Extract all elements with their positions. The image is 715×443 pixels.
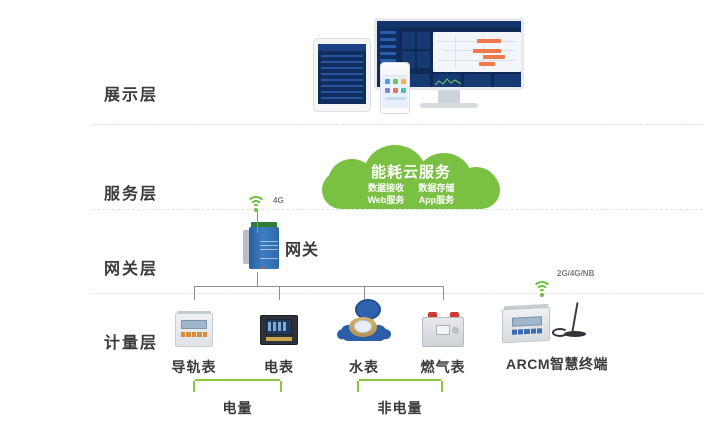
connector-to-water-meter: [364, 286, 365, 300]
meter-din-rail: 导轨表: [151, 305, 237, 377]
connector-to-gas-meter: [443, 286, 444, 300]
divider-gateway-metering: [92, 293, 703, 295]
gateway-network-tag: 4G: [273, 196, 284, 205]
connector-gateway-down: [257, 272, 258, 286]
divider-presentation-service: [92, 124, 703, 126]
connector-to-electric-meter: [279, 286, 280, 300]
gateway-device-group: 4G 网关: [243, 192, 353, 272]
antenna-base: [564, 331, 586, 337]
layer-label-presentation: 展示层: [104, 81, 200, 105]
architecture-diagram: 展示层 服务层 网关层 计量层: [0, 0, 715, 443]
wifi-signal-icon: [245, 196, 267, 212]
cloud-line-data-receive: 数据接收: [368, 182, 405, 194]
din-rail-meter-icon: [151, 305, 237, 353]
smartphone-device: [380, 62, 410, 114]
gateway-body: [249, 227, 279, 269]
connector-bus-horizontal: [194, 286, 443, 287]
bracket-label-electric: 电量: [193, 398, 282, 418]
electric-meter-icon: [236, 305, 322, 353]
dashboard-chart-panel: [494, 74, 521, 90]
phone-app-header: [382, 68, 408, 76]
dashboard-card: [417, 32, 430, 49]
cloud-line-data-storage: 数据存储: [418, 182, 454, 194]
meter-label-water: 水表: [321, 357, 407, 377]
bracket-non-electric-group: [357, 381, 443, 392]
tablet-device: [313, 38, 371, 112]
gas-meter-icon: [400, 305, 486, 353]
dashboard-map-panel: [433, 32, 521, 72]
antenna-rod-icon: [571, 302, 578, 332]
cloud-line-web-service: Web服务: [368, 194, 405, 206]
tablet-app-header: [318, 44, 366, 51]
wifi-signal-icon: [531, 281, 553, 297]
meter-label-electric: 电表: [236, 357, 322, 377]
dashboard-card: [402, 32, 415, 49]
arcm-terminal-device: ARCM智慧终端: [496, 300, 616, 350]
monitor-stand-neck: [438, 90, 460, 104]
cloud-line-app-service: App服务: [418, 194, 454, 206]
meter-electric: 电表: [236, 305, 322, 377]
terminal-network-tag: 2G/4G/NB: [557, 269, 594, 278]
water-meter-icon: [321, 299, 407, 353]
connector-to-din-rail-meter: [194, 286, 195, 300]
bracket-electric-group: [193, 381, 282, 392]
gateway-label: 网关: [285, 236, 319, 260]
connector-gateway-to-cloud: [257, 211, 258, 233]
arcm-display: [512, 316, 542, 327]
meter-gas: 燃气表: [400, 305, 486, 377]
sparkline-icon: [435, 78, 461, 87]
dashboard-card: [417, 51, 430, 68]
meter-label-gas: 燃气表: [400, 357, 486, 377]
bracket-label-non-electric: 非电量: [357, 398, 443, 418]
meter-water: 水表: [321, 299, 407, 377]
dashboard-chart-panel: [464, 74, 491, 90]
meter-label-din-rail: 导轨表: [151, 357, 237, 377]
cloud-column-storage: 数据存储 App服务: [418, 182, 454, 206]
phone-screen: [382, 68, 408, 108]
layer-label-service: 服务层: [104, 180, 200, 204]
layer-label-gateway: 网关层: [104, 255, 200, 279]
monitor-stand-base: [420, 103, 478, 108]
terminal-label: ARCM智慧终端: [490, 354, 624, 374]
tablet-screen: [318, 44, 366, 104]
cloud-title: 能耗云服务: [316, 161, 506, 182]
cloud-column-receive: 数据接收 Web服务: [368, 182, 405, 206]
